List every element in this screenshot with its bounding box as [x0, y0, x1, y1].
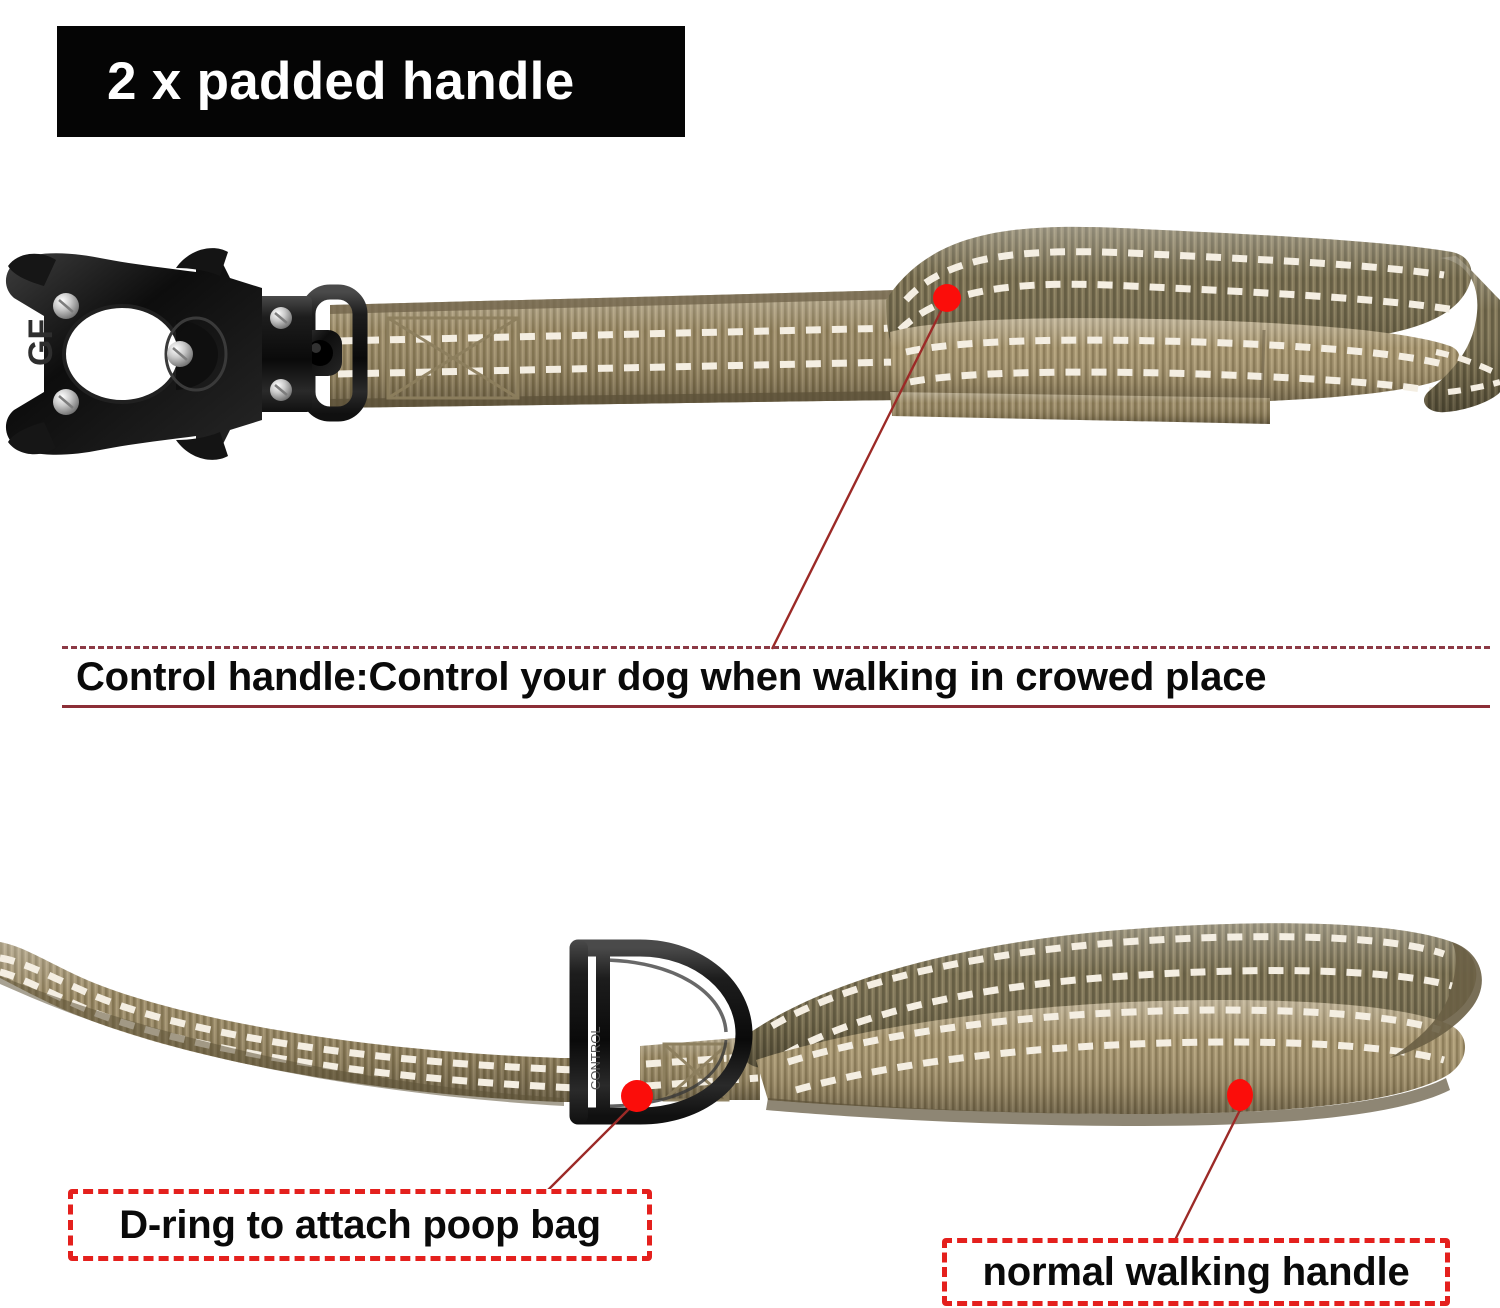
svg-text:GF: GF — [22, 319, 60, 366]
control-handle-loop — [886, 227, 1471, 424]
frog-clip: GF — [6, 248, 312, 460]
caption-normal-walking-handle-label: normal walking handle — [983, 1252, 1410, 1292]
lower-strap — [0, 942, 580, 1106]
lower-mid-strap — [640, 1036, 760, 1100]
infographic-canvas: GF — [0, 0, 1500, 1308]
swivel-ring — [296, 292, 360, 414]
caption-d-ring-label: D-ring to attach poop bag — [119, 1205, 601, 1245]
marker-d-ring — [545, 1080, 653, 1193]
upper-strap — [330, 290, 900, 408]
caption-d-ring: D-ring to attach poop bag — [68, 1189, 652, 1261]
d-ring: CONTROL — [570, 940, 744, 1124]
caption-normal-walking-handle: normal walking handle — [942, 1238, 1450, 1306]
bungee-section — [1424, 256, 1500, 412]
title-banner: 2 x padded handle — [57, 26, 685, 137]
caption-control-handle: Control handle:Control your dog when wal… — [62, 646, 1490, 708]
marker-walking-handle — [1175, 1079, 1253, 1240]
svg-text:CONTROL: CONTROL — [588, 1026, 603, 1090]
title-banner-label: 2 x padded handle — [107, 55, 574, 108]
caption-control-handle-label: Control handle:Control your dog when wal… — [76, 657, 1266, 697]
walking-handle-loop — [741, 923, 1482, 1126]
marker-control-handle — [772, 284, 961, 649]
